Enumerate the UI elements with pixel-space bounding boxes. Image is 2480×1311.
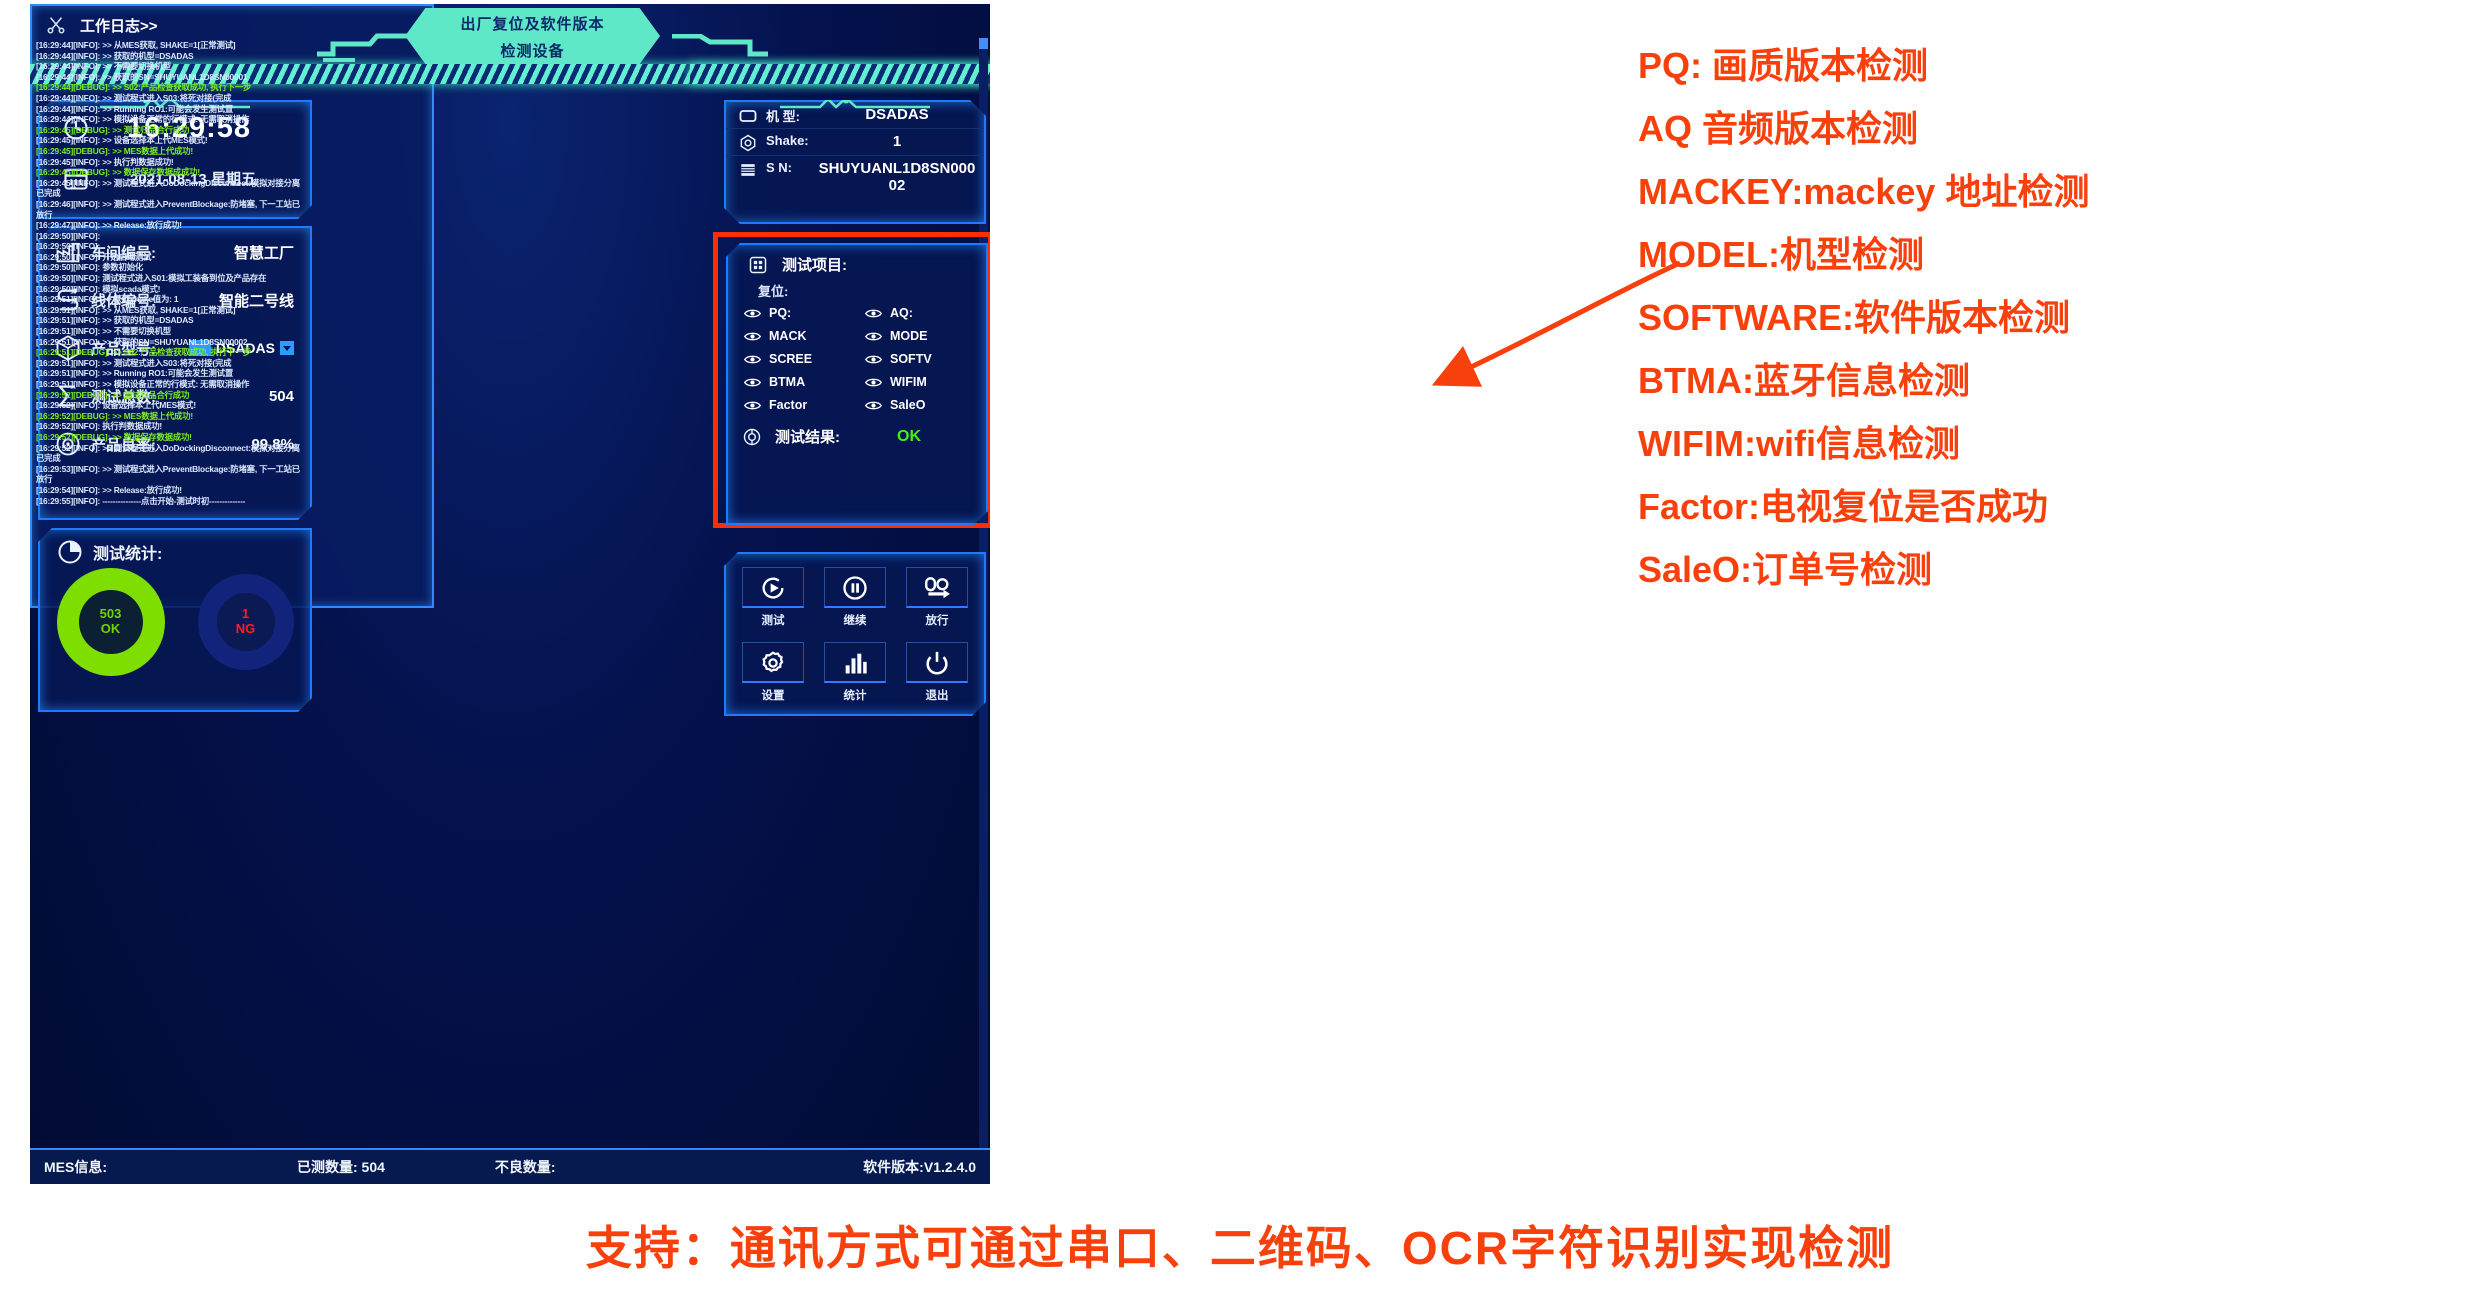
button-statistics-label: 统计 <box>844 687 867 703</box>
test-items-title: 测试项目: <box>782 254 847 275</box>
device-label-sn: S N: <box>766 160 818 175</box>
test-item[interactable]: PQ: <box>744 306 865 320</box>
test-item-label: Factor <box>769 398 807 412</box>
log-line: [16:29:44][DEBUG]: >> S02:产品检查获取成功, 执行下一… <box>36 82 976 93</box>
eye-icon <box>865 399 882 412</box>
annotation-line: BTMA:蓝牙信息检测 <box>1638 363 2458 399</box>
button-release-label: 放行 <box>926 612 949 628</box>
test-item-label: SaleO <box>890 398 925 412</box>
hmi-screen: 出厂复位及软件版本 检测设备 16:29:58 <box>30 4 990 1184</box>
device-label-shake: Shake: <box>766 133 818 148</box>
annotation-line: MACKEY:mackey 地址检测 <box>1638 174 2458 210</box>
test-item-label: MODE <box>890 329 928 343</box>
test-item[interactable]: SaleO <box>865 398 986 412</box>
work-log-panel: 工作日志>> [16:29:44][INFO]: >> 从MES获取, SHAK… <box>30 4 434 608</box>
app-title-line1: 出厂复位及软件版本 <box>405 8 660 35</box>
annotation-list: PQ: 画质版本检测AQ 音频版本检测MACKEY:mackey 地址检测MOD… <box>1638 48 2458 615</box>
annotation-line: Factor:电视复位是否成功 <box>1638 489 2458 525</box>
power-icon <box>906 642 968 683</box>
action-buttons-grid: 测试 继续 <box>726 554 984 714</box>
action-buttons-panel: 测试 继续 <box>724 552 986 716</box>
log-line: [16:29:44][INFO]: >> 不需要切换机型 <box>36 61 976 72</box>
test-result-value: OK <box>897 428 921 446</box>
display-icon <box>738 106 758 126</box>
test-items-highlight-box: 测试项目: 复位: PQ:AQ:MACKMODESCREESOFTVBTMAWI… <box>713 232 990 528</box>
button-statistics[interactable]: 统计 <box>814 635 896 710</box>
test-items-header: 测试项目: <box>728 245 986 275</box>
button-exit-label: 退出 <box>926 687 949 703</box>
test-item[interactable]: BTMA <box>744 375 865 389</box>
eye-icon <box>744 353 761 366</box>
annotation-line: PQ: 画质版本检测 <box>1638 48 2458 84</box>
test-items-subtitle: 复位: <box>728 275 986 302</box>
status-tested: 已测数量: 504 <box>297 1157 385 1177</box>
eye-icon <box>865 307 882 320</box>
button-test[interactable]: 测试 <box>732 560 814 635</box>
annotation-line: SaleO:订单号检测 <box>1638 552 2458 588</box>
test-result-label: 测试结果: <box>775 426 840 447</box>
test-items-grid: PQ:AQ:MACKMODESCREESOFTVBTMAWIFIMFactorS… <box>728 302 986 412</box>
test-item-label: MACK <box>769 329 807 343</box>
annotation-line: SOFTWARE:软件版本检测 <box>1638 300 2458 336</box>
test-item[interactable]: WIFIM <box>865 375 986 389</box>
button-test-label: 测试 <box>762 612 785 628</box>
status-mes: MES信息: <box>44 1157 107 1177</box>
test-result-row: 测试结果: OK <box>728 412 986 447</box>
test-item[interactable]: MODE <box>865 329 986 343</box>
test-item[interactable]: Factor <box>744 398 865 412</box>
eye-icon <box>744 399 761 412</box>
annotation-line: WIFIM:wifi信息检测 <box>1638 426 2458 462</box>
log-line: [16:29:44][INFO]: >> 获取的SN=SHUYUANL1D8SN… <box>36 72 976 83</box>
status-version: 软件版本:V1.2.4.0 <box>863 1157 976 1177</box>
test-item-label: BTMA <box>769 375 805 389</box>
status-bar: MES信息: 已测数量: 504 不良数量: 软件版本:V1.2.4.0 <box>30 1148 990 1184</box>
device-row-sn: S N: SHUYUANL1D8SN00002 <box>726 156 984 197</box>
log-line: [16:29:44][INFO]: >> 获取的机型=DSADAS <box>36 51 976 62</box>
hmi-background: 出厂复位及软件版本 检测设备 16:29:58 <box>30 4 990 1184</box>
button-exit[interactable]: 退出 <box>896 635 978 710</box>
test-item[interactable]: SCREE <box>744 352 865 366</box>
device-value-shake: 1 <box>818 133 976 150</box>
device-info-panel: 机 型: DSADAS Shake: 1 S N: SHUY <box>724 100 986 224</box>
device-row-shake: Shake: 1 <box>726 129 984 156</box>
test-item[interactable]: AQ: <box>865 306 986 320</box>
test-item-label: PQ: <box>769 306 791 320</box>
log-line: [16:29:44][INFO]: >> 从MES获取, SHAKE=1[正常测… <box>36 40 976 51</box>
release-icon <box>906 567 968 608</box>
grid-icon <box>744 255 772 275</box>
test-items-panel: 测试项目: 复位: PQ:AQ:MACKMODESCREESOFTVBTMAWI… <box>726 243 988 525</box>
eye-icon <box>865 330 882 343</box>
test-item[interactable]: SOFTV <box>865 352 986 366</box>
log-scroll-thumb-top[interactable] <box>979 38 988 49</box>
eye-icon <box>744 376 761 389</box>
status-defect: 不良数量: <box>495 1157 556 1177</box>
bar-chart-icon <box>824 642 886 683</box>
pause-icon <box>824 567 886 608</box>
eye-icon <box>744 307 761 320</box>
play-refresh-icon <box>742 567 804 608</box>
gear-icon <box>742 642 804 683</box>
annotation-line: AQ 音频版本检测 <box>1638 111 2458 147</box>
eye-icon <box>744 330 761 343</box>
button-continue[interactable]: 继续 <box>814 560 896 635</box>
annotation-line: MODEL:机型检测 <box>1638 237 2458 273</box>
shake-icon <box>738 133 758 153</box>
test-item-label: SOFTV <box>890 352 932 366</box>
button-settings-label: 设置 <box>762 687 785 703</box>
result-icon <box>738 427 766 447</box>
button-continue-label: 继续 <box>844 612 867 628</box>
eye-icon <box>865 376 882 389</box>
footer-caption: 支持：通讯方式可通过串口、二维码、OCR字符识别实现检测 <box>0 1212 2480 1278</box>
test-item[interactable]: MACK <box>744 329 865 343</box>
eye-icon <box>865 353 882 366</box>
test-item-label: AQ: <box>890 306 913 320</box>
device-value-sn: SHUYUANL1D8SN00002 <box>818 160 976 195</box>
button-settings[interactable]: 设置 <box>732 635 814 710</box>
test-item-label: WIFIM <box>890 375 927 389</box>
test-item-label: SCREE <box>769 352 812 366</box>
serial-icon <box>738 160 758 180</box>
button-release[interactable]: 放行 <box>896 560 978 635</box>
